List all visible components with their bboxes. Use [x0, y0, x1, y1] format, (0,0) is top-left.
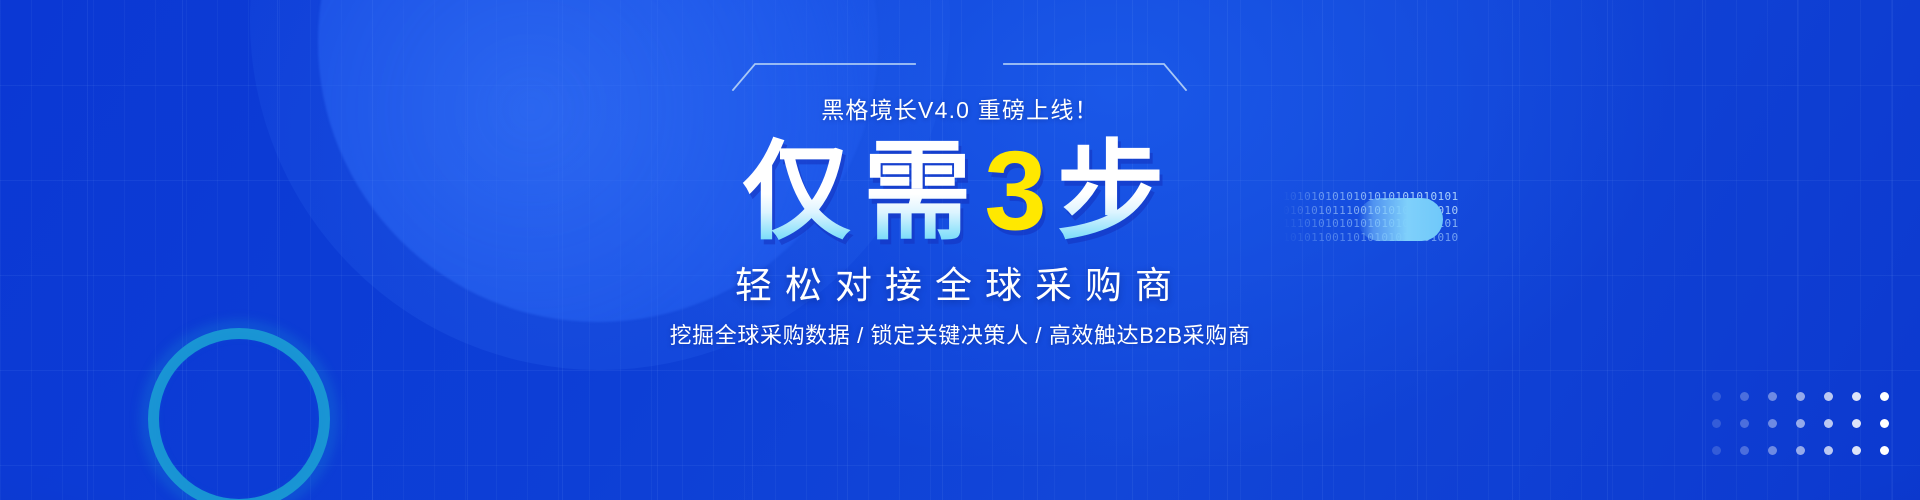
product-tagline: 黑格境长V4.0 重磅上线！ — [0, 91, 1920, 125]
grid-dot — [1768, 446, 1777, 455]
grid-dot — [1880, 419, 1889, 428]
grid-dot — [1712, 446, 1721, 455]
grid-dot — [1740, 446, 1749, 455]
grid-dot — [1740, 419, 1749, 428]
grid-dot — [1852, 419, 1861, 428]
headline-part-2: 步 — [1057, 136, 1178, 248]
grid-dot — [1796, 392, 1805, 401]
promo-banner: 10101010101010101010101010 0101010111001… — [0, 0, 1920, 500]
grid-dot — [1712, 392, 1721, 401]
decorative-ring-icon — [148, 328, 330, 500]
feature-list-text: 挖掘全球采购数据 / 锁定关键决策人 / 高效触达B2B采购商 — [0, 318, 1920, 350]
grid-dot — [1796, 419, 1805, 428]
grid-dot — [1824, 446, 1833, 455]
subheadline: 轻松对接全球采购商 — [0, 255, 1920, 309]
grid-dot — [1880, 446, 1889, 455]
headline: 仅需3步 — [0, 135, 1920, 247]
headline-step-number: 3 — [984, 135, 1056, 247]
bracket-frame-icon — [727, 59, 1192, 91]
grid-dot — [1796, 446, 1805, 455]
grid-dot — [1824, 392, 1833, 401]
grid-dot — [1768, 419, 1777, 428]
grid-dot — [1768, 392, 1777, 401]
dot-grid-decoration — [1712, 392, 1908, 473]
grid-dot — [1852, 392, 1861, 401]
headline-part-1: 仅需 — [742, 136, 984, 248]
grid-dot — [1740, 392, 1749, 401]
grid-dot — [1824, 419, 1833, 428]
grid-dot — [1712, 419, 1721, 428]
grid-dot — [1880, 392, 1889, 401]
grid-dot — [1852, 446, 1861, 455]
